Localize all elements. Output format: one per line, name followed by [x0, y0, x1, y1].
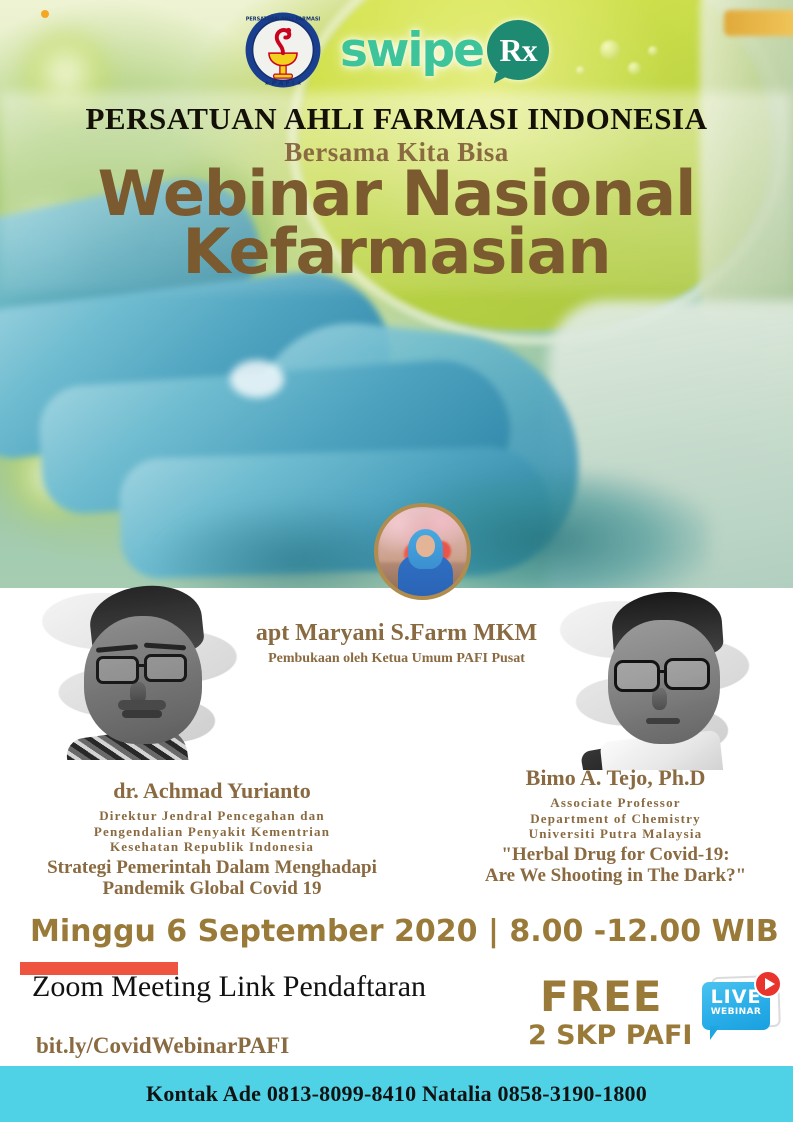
live-webinar-badge: LIVE WEBINAR — [698, 972, 786, 1044]
speaker-photo-bimo-tejo — [556, 590, 764, 770]
svg-text:PERSATUAN AHLI FARMASI: PERSATUAN AHLI FARMASI — [246, 16, 321, 22]
event-datetime: Minggu 6 September 2020 | 8.00 -12.00 WI… — [30, 914, 779, 949]
host-name: apt Maryani S.Farm MKM — [0, 620, 793, 647]
logo-row: ★ P A F I ★ PERSATUAN AHLI FARMASI swipe… — [0, 6, 793, 94]
price-free-label: FREE — [540, 972, 662, 1021]
speaker-affiliation: Direktur Jendral Pencegahan dan Pengenda… — [0, 808, 432, 855]
badge-speech-tail — [710, 1026, 720, 1040]
speaker-name: dr. Achmad Yurianto — [0, 778, 432, 804]
platform-registration-label: Zoom Meeting Link Pendaftaran — [32, 970, 426, 1004]
portrait-moustache — [118, 700, 166, 710]
host-role: Pembukaan oleh Ketua Umum PAFI Pusat — [0, 651, 793, 667]
swiperx-logo: swipe Rx — [340, 20, 549, 80]
portrait-nose — [652, 688, 667, 710]
rx-bubble-icon: Rx — [487, 20, 549, 80]
rx-label: Rx — [499, 34, 536, 66]
contact-bar: Kontak Ade 0813-8099-8410 Natalia 0858-3… — [0, 1066, 793, 1122]
speaker-info-bimo-tejo: Bimo A. Tejo, Ph.D Associate Professor D… — [438, 765, 793, 887]
skp-credits-label: 2 SKP PAFI — [528, 1020, 692, 1051]
page-title: Webinar Nasional Kefarmasian — [0, 165, 793, 280]
svg-text:★ P A F I ★: ★ P A F I ★ — [264, 80, 302, 87]
portrait-mouth — [122, 710, 162, 718]
speaker-name: Bimo A. Tejo, Ph.D — [438, 765, 793, 791]
play-button-icon — [754, 970, 782, 998]
registration-link[interactable]: bit.ly/CovidWebinarPAFI — [36, 1033, 289, 1059]
speaker-topic: Strategi Pemerintah Dalam Menghadapi Pan… — [0, 858, 432, 900]
pafi-logo-icon: ★ P A F I ★ PERSATUAN AHLI FARMASI — [244, 11, 322, 89]
contact-text: Kontak Ade 0813-8099-8410 Natalia 0858-3… — [146, 1081, 647, 1107]
portrait-mouth — [646, 718, 680, 724]
speaker-photo-achmad-yurianto — [38, 582, 252, 760]
portrait-eyeglass-bridge — [658, 670, 666, 673]
badge-webinar-text: WEBINAR — [702, 1008, 770, 1017]
host-avatar — [374, 503, 471, 600]
title-line-2: Kefarmasian — [0, 223, 793, 281]
speaker-info-achmad-yurianto: dr. Achmad Yurianto Direktur Jendral Pen… — [0, 778, 432, 900]
portrait-artwork — [38, 582, 252, 760]
speaker-affiliation: Associate Professor Department of Chemis… — [438, 795, 793, 842]
webinar-poster: ★ P A F I ★ PERSATUAN AHLI FARMASI swipe… — [0, 0, 793, 1122]
swipe-dot-icon — [41, 10, 49, 18]
portrait-artwork — [556, 590, 764, 770]
glove-highlight — [230, 360, 284, 398]
speaker-topic: "Herbal Drug for Covid-19: Are We Shooti… — [438, 845, 793, 887]
organization-title: PERSATUAN AHLI FARMASI INDONESIA — [0, 101, 793, 137]
swipe-wordmark: swipe — [340, 27, 483, 74]
host-figure-face — [416, 535, 435, 557]
